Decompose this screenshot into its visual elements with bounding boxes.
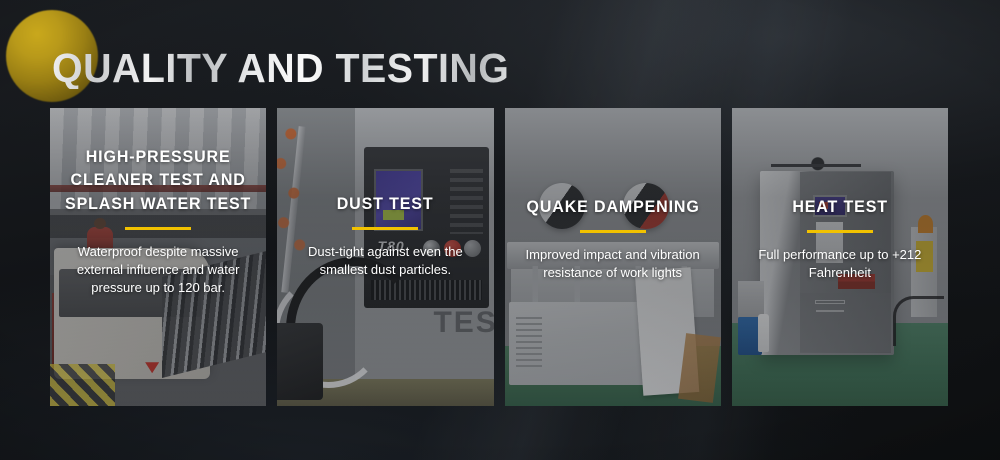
card-description: Full performance up to +212 Fahrenheit: [740, 246, 940, 282]
card-description: Waterproof despite massive external infl…: [58, 243, 258, 297]
card-divider-rule: [125, 227, 191, 230]
card-title: HIGH-PRESSURE CLEANER TEST AND SPLASH WA…: [61, 146, 255, 216]
card-content: HEAT TEST Full performance up to +212 Fa…: [740, 196, 940, 282]
test-card-heat-test[interactable]: HEAT TEST Full performance up to +212 Fa…: [732, 108, 948, 406]
card-content: DUST TEST Dust-tight against even the sm…: [285, 193, 485, 279]
card-content: QUAKE DAMPENING Improved impact and vibr…: [513, 196, 713, 282]
quality-and-testing-section: QUALITY AND TESTING HIGH-PRESSURE CLEANE…: [0, 0, 1000, 460]
test-card-quake-dampening[interactable]: QUAKE DAMPENING Improved impact and vibr…: [505, 108, 721, 406]
card-content: HIGH-PRESSURE CLEANER TEST AND SPLASH WA…: [58, 146, 258, 297]
card-description: Improved impact and vibration resistance…: [513, 246, 713, 282]
card-divider-rule: [807, 230, 873, 233]
card-divider-rule: [580, 230, 646, 233]
card-title: DUST TEST: [288, 193, 482, 216]
card-title: HEAT TEST: [743, 196, 937, 219]
test-card-dust-test[interactable]: T80 TES DUST TEST Dust-tight against ev: [277, 108, 493, 406]
test-cards-grid: HIGH-PRESSURE CLEANER TEST AND SPLASH WA…: [50, 108, 948, 406]
test-card-high-pressure-cleaner-test[interactable]: HIGH-PRESSURE CLEANER TEST AND SPLASH WA…: [50, 108, 266, 406]
page-title: QUALITY AND TESTING: [52, 48, 509, 89]
card-divider-rule: [352, 227, 418, 230]
card-description: Dust-tight against even the smallest dus…: [285, 243, 485, 279]
card-title: QUAKE DAMPENING: [516, 196, 710, 219]
